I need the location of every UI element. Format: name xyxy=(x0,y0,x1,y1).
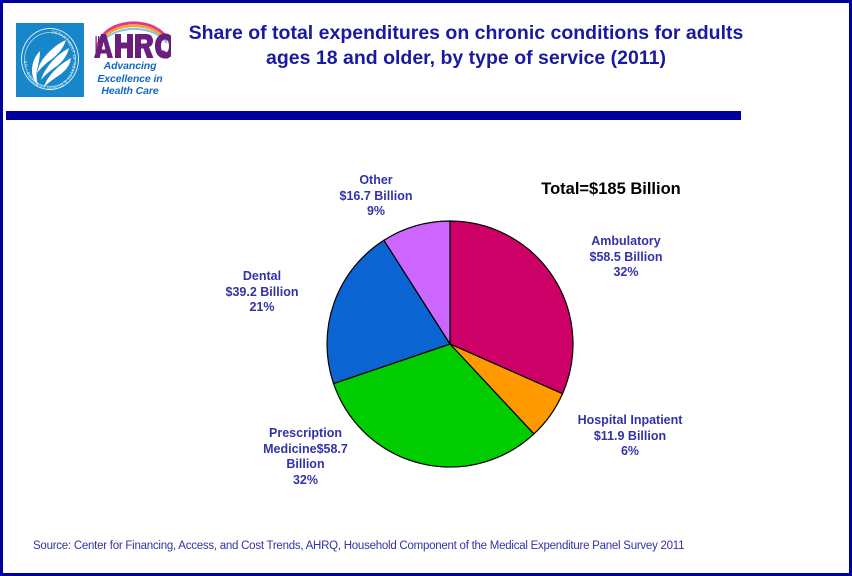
slide-canvas: DEPARTMENT OF HEALTH & HUMAN SERVICES · … xyxy=(0,0,852,576)
pie-label-ambulatory: Ambulatory $58.5 Billion 32% xyxy=(546,234,706,281)
slide-header: DEPARTMENT OF HEALTH & HUMAN SERVICES · … xyxy=(6,6,852,107)
pie-label-other: Other $16.7 Billion 9% xyxy=(311,173,441,220)
ahrq-tagline: Advancing Excellence in Health Care xyxy=(89,60,171,98)
hhs-seal-icon: DEPARTMENT OF HEALTH & HUMAN SERVICES · … xyxy=(16,23,84,97)
pie-chart: Total=$185 Billion Other $16.7 Billion 9… xyxy=(6,123,852,523)
page-title: Share of total expenditures on chronic c… xyxy=(186,21,746,71)
ahrq-wordmark-icon xyxy=(89,20,171,62)
source-note: Source: Center for Financing, Access, an… xyxy=(33,540,823,552)
total-label: Total=$185 Billion xyxy=(516,180,706,199)
ahrq-logo: Advancing Excellence in Health Care xyxy=(89,20,171,100)
header-divider-bar xyxy=(6,111,741,120)
pie-label-dental: Dental $39.2 Billion 21% xyxy=(192,269,332,316)
logo-group: DEPARTMENT OF HEALTH & HUMAN SERVICES · … xyxy=(13,20,171,100)
pie-label-hospital-inpatient: Hospital Inpatient $11.9 Billion 6% xyxy=(540,413,720,460)
hhs-eagle-glyph: DEPARTMENT OF HEALTH & HUMAN SERVICES · … xyxy=(16,23,84,97)
pie-label-prescription-medicine: Prescription Medicine$58.7 Billion 32% xyxy=(228,426,383,488)
